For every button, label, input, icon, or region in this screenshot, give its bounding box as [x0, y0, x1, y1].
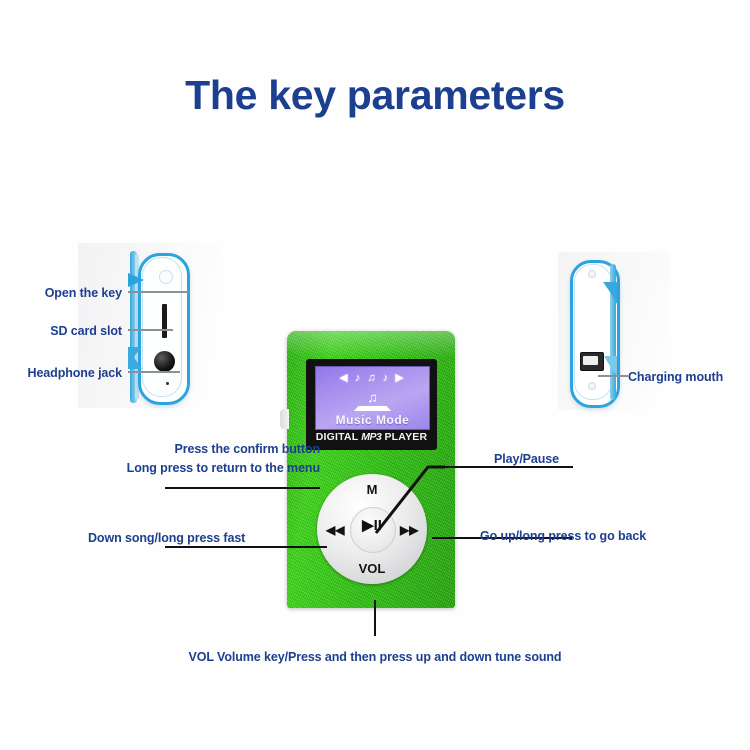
device-right-side-photo	[558, 252, 670, 410]
volume-button[interactable]: VOL	[317, 562, 427, 575]
screen-icons-row: ◀ ♪ ♫ ♪ ▶	[316, 373, 429, 384]
label-go-up: Go up/long press to go back	[480, 527, 646, 545]
bezel-brand-caption: DIGITAL MP3 PLAYER	[306, 431, 437, 443]
bezel-caption-mp3: MP3	[361, 431, 381, 443]
label-volume-key: VOL Volume key/Press and then press up a…	[0, 648, 750, 666]
leader-line-volume	[374, 600, 376, 636]
leader-line-headphone-jack	[128, 371, 180, 373]
label-sd-card-slot: SD card slot	[10, 322, 122, 340]
open-key-notch	[159, 270, 173, 284]
label-headphone-jack: Headphone jack	[0, 364, 122, 382]
screen-bezel: ◀ ♪ ♫ ♪ ▶ ♫ Music Mode DIGITAL MP3 PLAYE…	[306, 359, 437, 450]
label-down-song: Down song/long press fast	[88, 529, 245, 547]
left-small-dot	[166, 382, 169, 385]
bezel-caption-prefix: DIGITAL	[316, 431, 362, 443]
leader-line-sd-card-slot	[128, 329, 173, 331]
leader-line-confirm-button	[165, 487, 320, 489]
leader-line-play-pause-diagonal	[370, 455, 445, 535]
page-title: The key parameters	[0, 72, 750, 119]
bezel-caption-suffix: PLAYER	[381, 431, 427, 443]
previous-button[interactable]: ◀◀	[326, 524, 344, 536]
music-note-icon: ♫	[316, 390, 429, 404]
label-confirm-button-line2: Long press to return to the menu	[62, 459, 320, 477]
leader-line-open-the-key	[128, 291, 190, 293]
screen-mode-text: Music Mode	[316, 413, 429, 427]
charging-port-inner	[583, 356, 598, 365]
leader-line-down-song	[165, 546, 327, 548]
lcd-screen: ◀ ♪ ♫ ♪ ▶ ♫ Music Mode	[315, 366, 430, 430]
screw-bottom-icon	[588, 382, 596, 390]
screen-pedestal-bar	[354, 406, 391, 411]
leader-line-charging-mouth	[598, 375, 628, 377]
label-confirm-button-line1: Press the confirm button	[62, 440, 320, 458]
screw-top-icon	[588, 270, 596, 278]
label-play-pause: Play/Pause	[494, 450, 559, 468]
label-charging-mouth: Charging mouth	[628, 368, 723, 386]
device-top-sheen	[287, 331, 455, 357]
headphone-jack-port	[154, 351, 175, 372]
key-parameters-infographic: The key parameters Open the key SD card …	[0, 0, 750, 750]
device-side-nub	[280, 409, 289, 429]
label-open-the-key: Open the key	[10, 284, 122, 302]
sd-card-slot-opening	[162, 304, 167, 338]
